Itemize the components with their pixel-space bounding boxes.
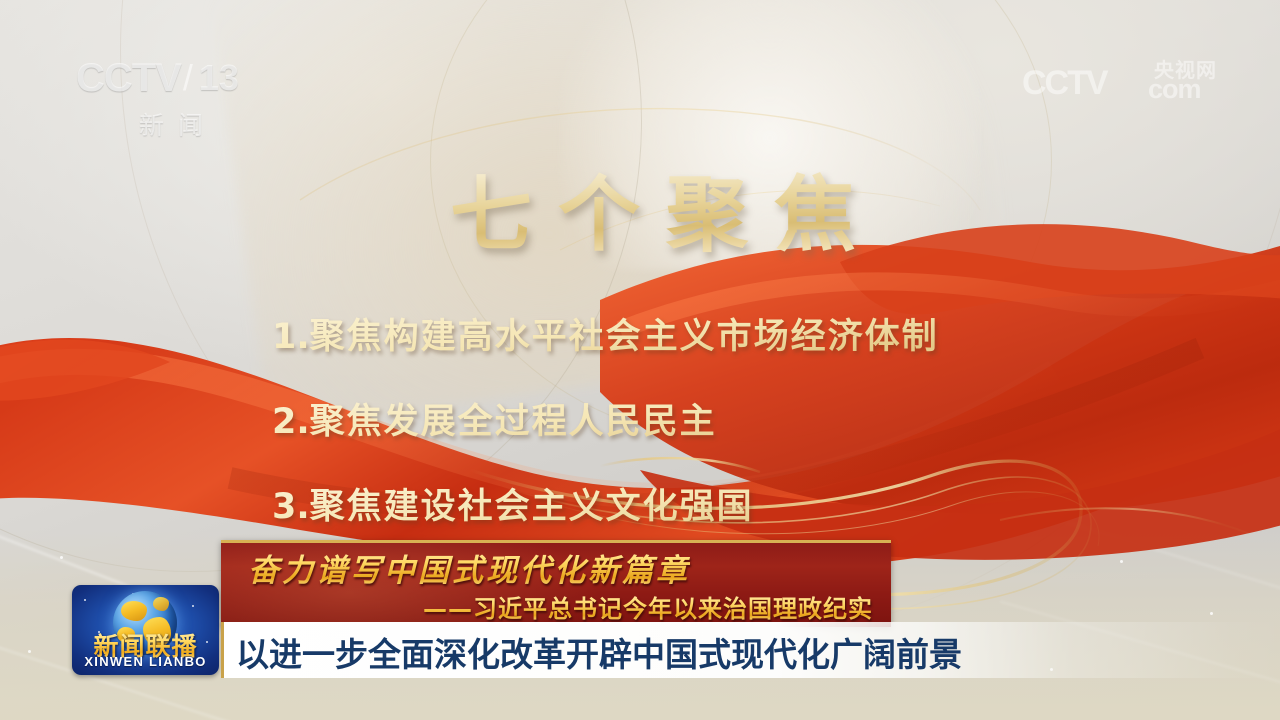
- headline-text: 以进一步全面深化改革开辟中国式现代化广阔前景: [236, 628, 962, 676]
- program-name-en: XINWEN LIANBO: [72, 654, 219, 669]
- logo-star: [192, 605, 194, 607]
- banner-title: 奋力谱写中国式现代化新篇章: [248, 545, 690, 590]
- background-speck: [28, 650, 31, 653]
- background-speck: [60, 556, 63, 559]
- broadcast-screen: CCTV / 13 新闻 CCTV 央视网 com 七个聚焦 1.聚焦构建高水平…: [0, 0, 1280, 720]
- logo-star: [84, 599, 86, 601]
- focus-item-text: 聚焦发展全过程人民民主: [310, 402, 717, 442]
- main-title: 七个聚焦: [0, 148, 1280, 267]
- watermark-cctv-text: CCTV: [1022, 64, 1107, 103]
- cctv13-channel-number: 13: [199, 57, 239, 99]
- cctv13-logo-row: CCTV / 13: [76, 52, 266, 104]
- focus-item-number: 2.: [272, 402, 310, 442]
- cctv13-slash-icon: /: [183, 57, 193, 99]
- background-speck: [1210, 612, 1213, 615]
- watermark-com-text: com: [1148, 74, 1201, 105]
- xinwen-lianbo-logo: 新闻联播 XINWEN LIANBO: [72, 585, 219, 675]
- focus-item-text: 聚焦建设社会主义文化强国: [310, 487, 754, 527]
- red-headline-banner: 奋力谱写中国式现代化新篇章 ——习近平总书记今年以来治国理政纪实: [221, 540, 891, 627]
- banner-subtitle: ——习近平总书记今年以来治国理政纪实: [423, 589, 873, 624]
- cctv13-channel-logo: CCTV / 13 新闻: [76, 52, 266, 144]
- focus-list: 1.聚焦构建高水平社会主义市场经济体制 2.聚焦发展全过程人民民主 3.聚焦建设…: [272, 312, 1232, 567]
- cctv13-channel-name: 新闻: [76, 106, 266, 142]
- focus-list-item: 1.聚焦构建高水平社会主义市场经济体制: [272, 312, 1232, 397]
- focus-item-number: 1.: [272, 317, 310, 357]
- headline-bar: 以进一步全面深化改革开辟中国式现代化广阔前景: [221, 622, 1280, 678]
- focus-item-text: 聚焦构建高水平社会主义市场经济体制: [310, 317, 939, 357]
- focus-item-number: 3.: [272, 487, 310, 527]
- cctv-wordmark: CCTV: [76, 56, 181, 101]
- cctv-com-watermark: CCTV 央视网 com: [1022, 56, 1252, 108]
- focus-list-item: 2.聚焦发展全过程人民民主: [272, 397, 1232, 482]
